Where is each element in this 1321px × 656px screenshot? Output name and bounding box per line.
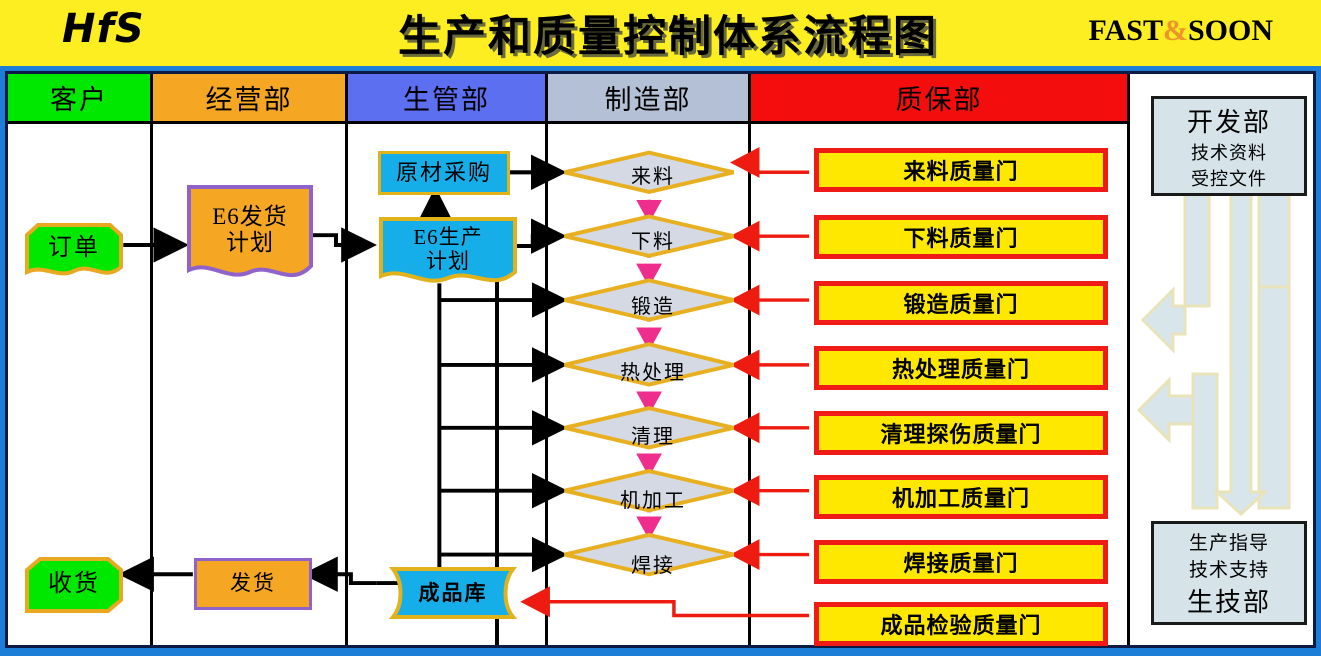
step-label: 下料 <box>631 225 675 254</box>
swimlane-label: 经营部 <box>206 78 293 117</box>
quality-gate-label: 来料质量门 <box>903 154 1018 186</box>
diagram-canvas: 客户 经营部 生管部 制造部 质保部 <box>5 71 1316 648</box>
quality-gate-machining[interactable]: 机加工质量门 <box>814 475 1108 519</box>
node-ship-goods[interactable]: 发货 <box>194 558 312 610</box>
company-logo: HfS <box>62 6 145 52</box>
diagram-frame: 客户 经营部 生管部 制造部 质保部 <box>0 66 1321 656</box>
quality-gate-label: 下料质量门 <box>903 221 1018 253</box>
node-receive-goods[interactable]: 收货 <box>24 556 124 614</box>
quality-gate-welding[interactable]: 焊接质量门 <box>814 540 1108 584</box>
department-development-title: 开发部 <box>1154 102 1304 139</box>
swimlane-header-manufacturing: 制造部 <box>548 74 748 124</box>
department-tech-support-line2: 技术支持 <box>1154 555 1304 582</box>
department-tech-support[interactable]: 生产指导 技术支持 生技部 <box>1151 521 1307 625</box>
node-material-purchase[interactable]: 原材采购 <box>378 151 510 195</box>
quality-gate-forging[interactable]: 锻造质量门 <box>814 281 1108 325</box>
brand-mark: FAST&SOON <box>1089 14 1274 48</box>
brand-left-text: FAST <box>1089 14 1163 47</box>
node-step-forging[interactable]: 锻造 <box>583 286 723 322</box>
title-bar: HfS 生产和质量控制体系流程图 FAST&SOON <box>0 0 1321 66</box>
step-label: 锻造 <box>631 290 675 319</box>
swimlane-header-quality: 质保部 <box>751 74 1127 124</box>
department-development-line3: 受控文件 <box>1154 165 1304 191</box>
node-step-cleaning[interactable]: 清理 <box>583 416 723 452</box>
node-step-incoming-material[interactable]: 来料 <box>583 156 723 192</box>
quality-gate-cutting[interactable]: 下料质量门 <box>814 215 1108 259</box>
node-ship-goods-label: 发货 <box>230 572 276 596</box>
quality-gate-heat-treatment[interactable]: 热处理质量门 <box>814 346 1108 390</box>
quality-gate-label: 热处理质量门 <box>892 352 1030 384</box>
node-production-plan[interactable]: E6生产 计划 <box>378 216 518 292</box>
quality-gate-cleaning-inspection[interactable]: 清理探伤质量门 <box>814 411 1108 455</box>
swimlane-header-pmc: 生管部 <box>348 74 545 124</box>
department-development[interactable]: 开发部 技术资料 受控文件 <box>1151 96 1307 196</box>
swimlane-label: 生管部 <box>403 78 490 117</box>
quality-gate-label: 锻造质量门 <box>903 287 1018 319</box>
step-label: 清理 <box>631 420 675 449</box>
step-label: 热处理 <box>620 356 686 385</box>
node-order[interactable]: 订单 <box>24 222 124 282</box>
department-development-line2: 技术资料 <box>1154 139 1304 165</box>
node-finished-goods-store[interactable]: 成品库 <box>379 566 527 620</box>
node-step-heat-treatment[interactable]: 热处理 <box>578 352 728 388</box>
page-title: 生产和质量控制体系流程图 <box>318 2 1018 64</box>
step-label: 焊接 <box>631 549 675 578</box>
quality-gate-label: 成品检验质量门 <box>880 608 1041 640</box>
swimlane-header-customer: 客户 <box>8 74 150 124</box>
brand-ampersand: & <box>1163 14 1188 47</box>
flowchart-page: HfS 生产和质量控制体系流程图 FAST&SOON 客户 经营部 生管部 <box>0 0 1321 656</box>
step-label: 机加工 <box>620 484 686 513</box>
brand-right-text: SOON <box>1188 14 1273 47</box>
quality-gate-label: 机加工质量门 <box>892 481 1030 513</box>
node-step-machining[interactable]: 机加工 <box>578 480 728 516</box>
quality-gate-label: 焊接质量门 <box>903 546 1018 578</box>
swimlane-label: 客户 <box>50 78 108 117</box>
node-ship-plan[interactable]: E6发货 计划 <box>186 184 314 290</box>
swimlane-label: 质保部 <box>896 78 983 117</box>
quality-gate-incoming-material[interactable]: 来料质量门 <box>814 148 1108 192</box>
quality-gate-label: 清理探伤质量门 <box>880 417 1041 449</box>
quality-gate-final-inspection[interactable]: 成品检验质量门 <box>814 602 1108 646</box>
swimlane-header-sales: 经营部 <box>153 74 345 124</box>
swimlane-label: 制造部 <box>605 78 692 117</box>
node-step-welding[interactable]: 焊接 <box>583 545 723 581</box>
node-step-cutting[interactable]: 下料 <box>583 221 723 257</box>
department-tech-support-line1: 生产指导 <box>1154 528 1304 555</box>
node-material-purchase-label: 原材采购 <box>396 161 492 186</box>
support-departments-panel: 开发部 技术资料 受控文件 生产指导 技术支持 生技部 <box>1133 74 1313 645</box>
step-label: 来料 <box>631 160 675 189</box>
department-tech-support-line3: 生技部 <box>1154 582 1304 619</box>
